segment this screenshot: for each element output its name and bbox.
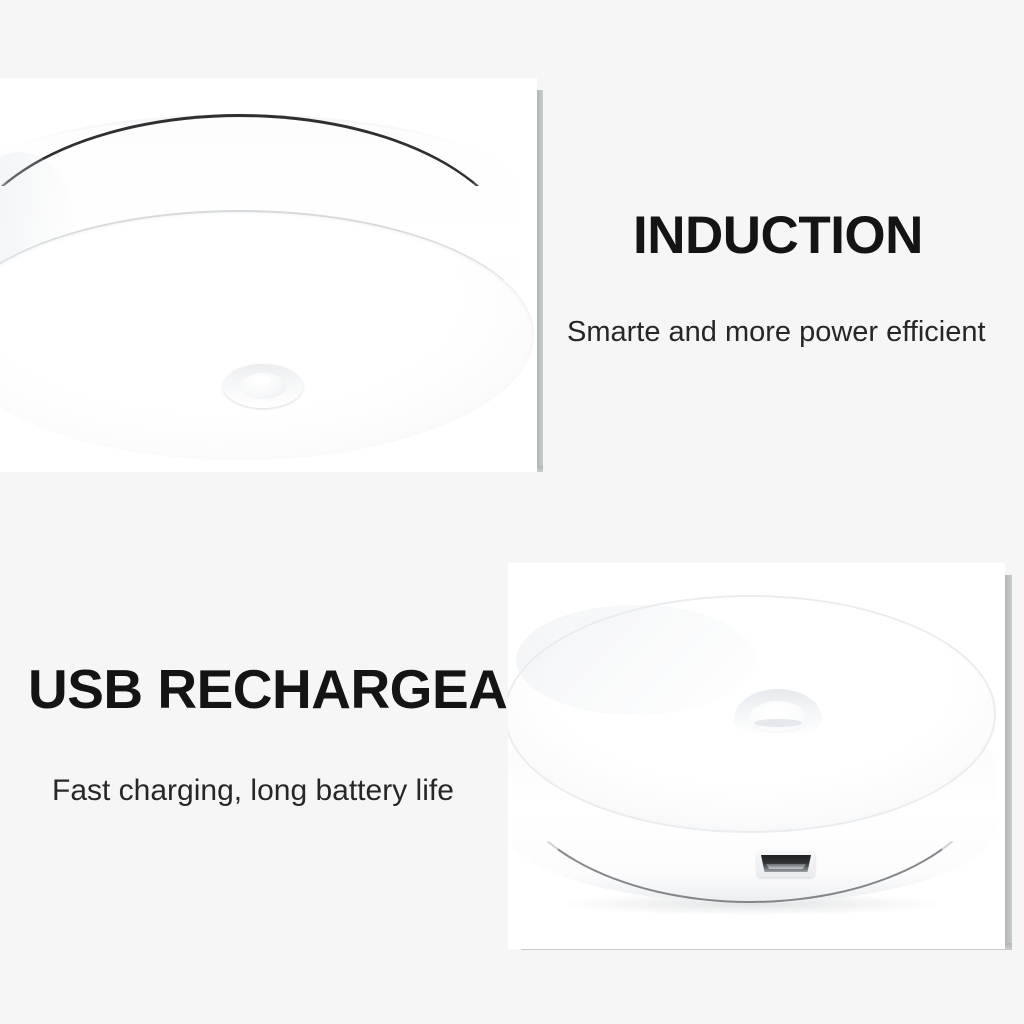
- motion-sensor-highlight: [251, 376, 271, 385]
- motion-sensor-slot: [754, 719, 802, 727]
- usb-rechargeable-feature-subtitle: Fast charging, long battery life: [52, 776, 454, 806]
- induction-feature-title: INDUCTION: [633, 209, 923, 262]
- induction-feature-subtitle: Smarte and more power efficient: [567, 318, 986, 347]
- induction-photo-shadow-right: [537, 90, 543, 472]
- induction-photo-panel: [0, 78, 537, 472]
- usb-port-inner-lip: [766, 864, 806, 869]
- puck-light-usb-view-illustration: [508, 593, 1005, 923]
- puck-light-front-view-illustration: [0, 92, 537, 462]
- motion-sensor-lens: [748, 701, 808, 733]
- usb-photo-shadow-right: [1005, 575, 1012, 949]
- motion-sensor-icon: [734, 689, 822, 737]
- micro-usb-port-icon: [757, 851, 815, 877]
- usb-port-opening: [761, 855, 811, 872]
- motion-sensor-icon: [223, 364, 303, 408]
- usb-photo-panel: [508, 563, 1005, 949]
- product-feature-banner: INDUCTION Smarte and more power efficien…: [0, 0, 1024, 1024]
- puck-light-top-shading: [516, 605, 756, 715]
